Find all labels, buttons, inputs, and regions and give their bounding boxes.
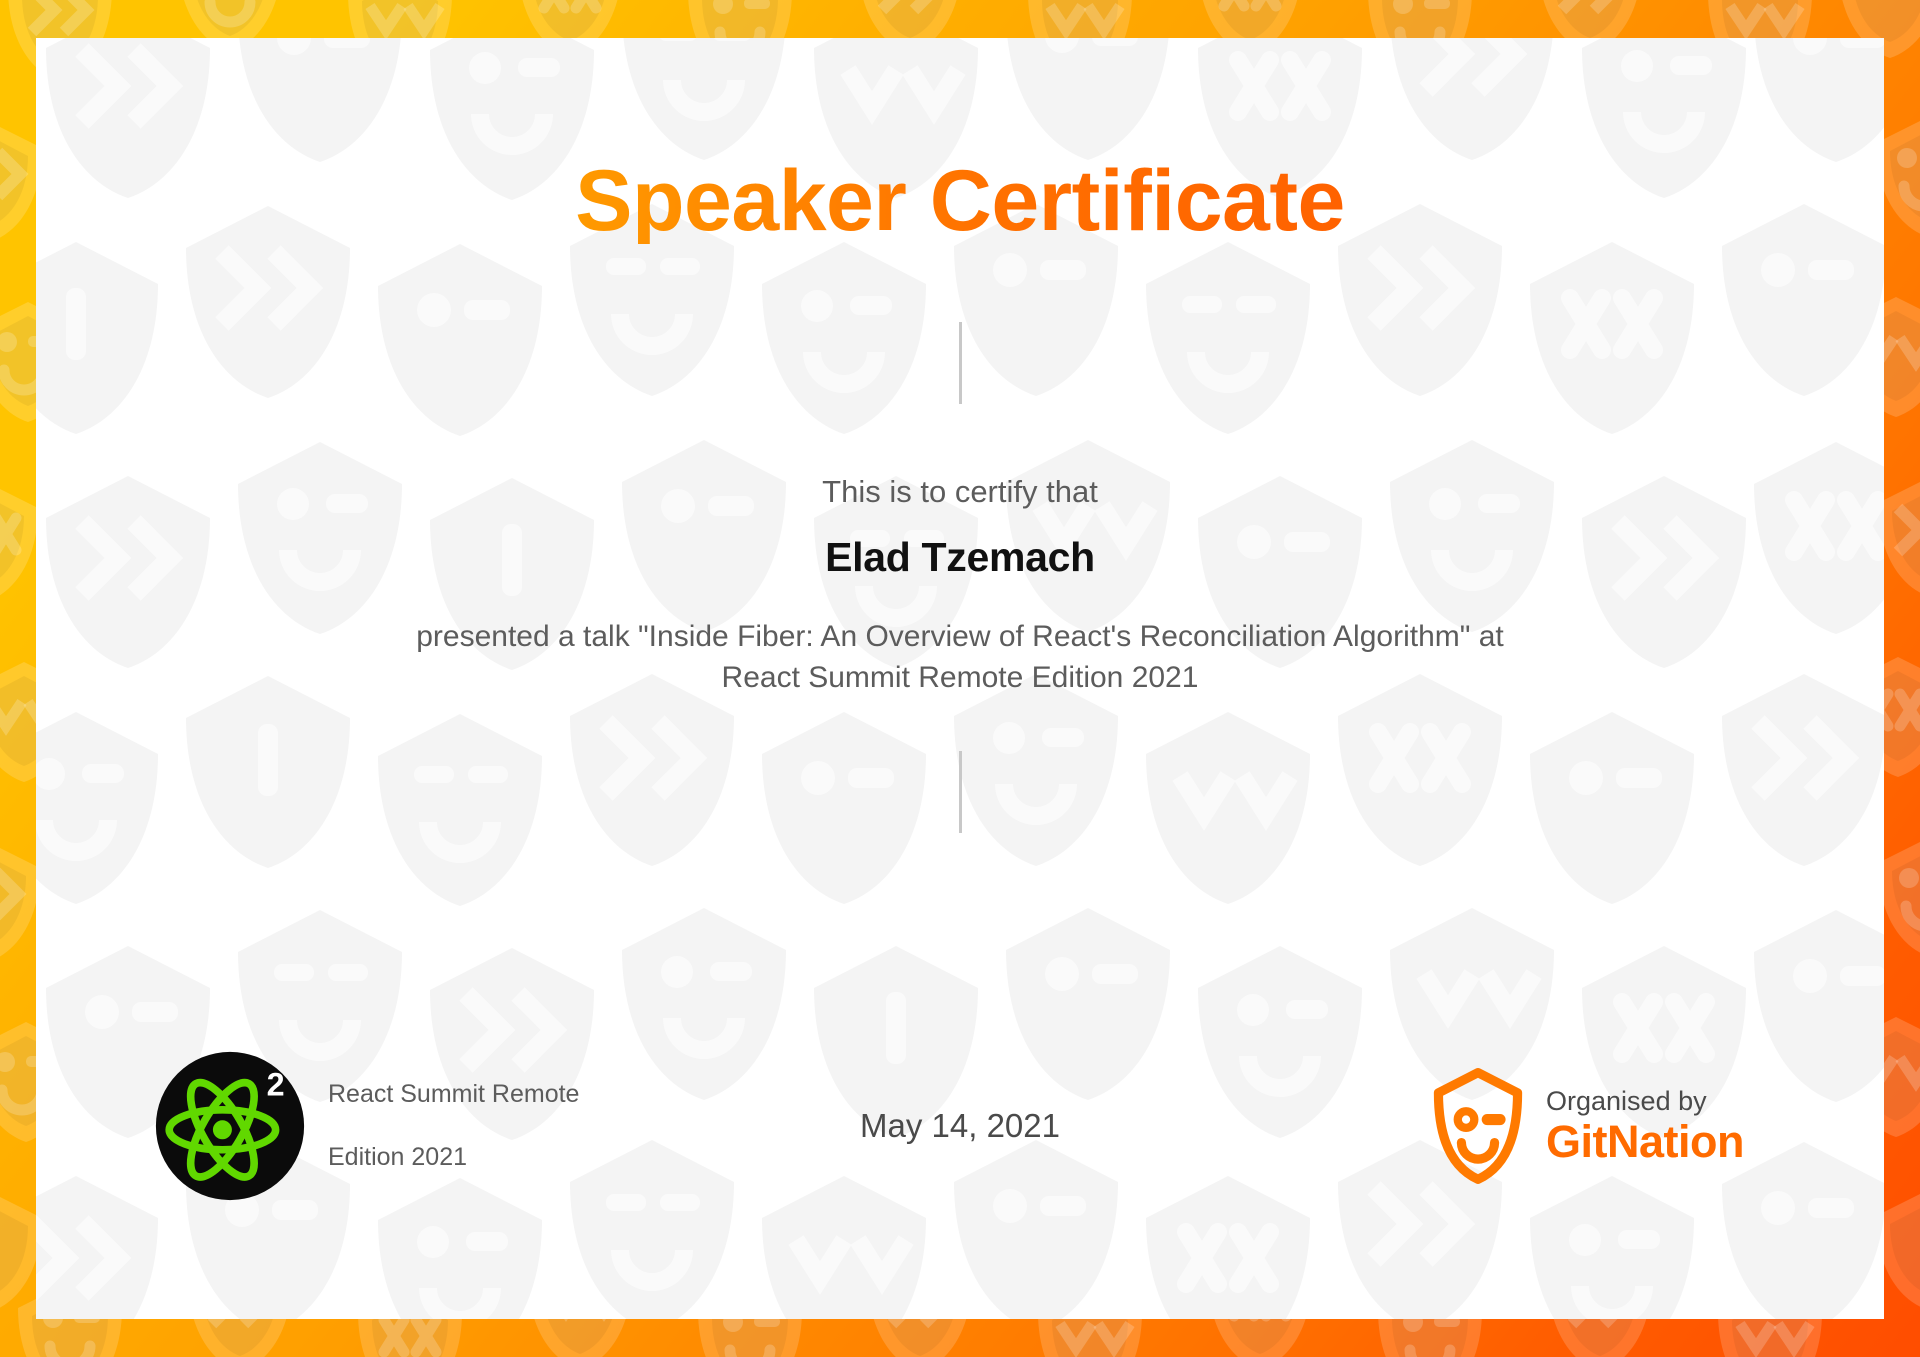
recipient-name: Elad Tzemach — [825, 534, 1095, 581]
event-name-line-1: React Summit Remote — [328, 1079, 579, 1110]
certify-line: This is to certify that — [822, 474, 1098, 510]
talk-description-line-1: presented a talk "Inside Fiber: An Overv… — [416, 617, 1504, 658]
event-branding: 2 React Summit Remote Edition 2021 — [154, 1048, 579, 1204]
talk-description: presented a talk "Inside Fiber: An Overv… — [416, 617, 1504, 699]
react-summit-logo-icon: 2 — [154, 1050, 306, 1202]
event-name: React Summit Remote Edition 2021 — [328, 1048, 579, 1204]
gitnation-shield-icon — [1432, 1067, 1524, 1185]
logo-superscript: 2 — [267, 1067, 285, 1103]
certificate-card: Speaker Certificate This is to certify t… — [36, 38, 1884, 1319]
organiser-name: GitNation — [1546, 1117, 1744, 1167]
organiser-branding: Organised by GitNation — [1432, 1067, 1744, 1185]
talk-description-line-2: React Summit Remote Edition 2021 — [416, 658, 1504, 699]
divider-bottom — [959, 751, 962, 833]
page-title: Speaker Certificate — [575, 158, 1345, 244]
certificate-footer: 2 React Summit Remote Edition 2021 May 1… — [36, 1051, 1884, 1201]
organised-by-label: Organised by — [1546, 1086, 1744, 1117]
speaker-certificate: Speaker Certificate This is to certify t… — [0, 0, 1920, 1357]
issue-date: May 14, 2021 — [860, 1107, 1060, 1145]
divider-top — [959, 322, 962, 404]
event-name-line-2: Edition 2021 — [328, 1142, 579, 1173]
